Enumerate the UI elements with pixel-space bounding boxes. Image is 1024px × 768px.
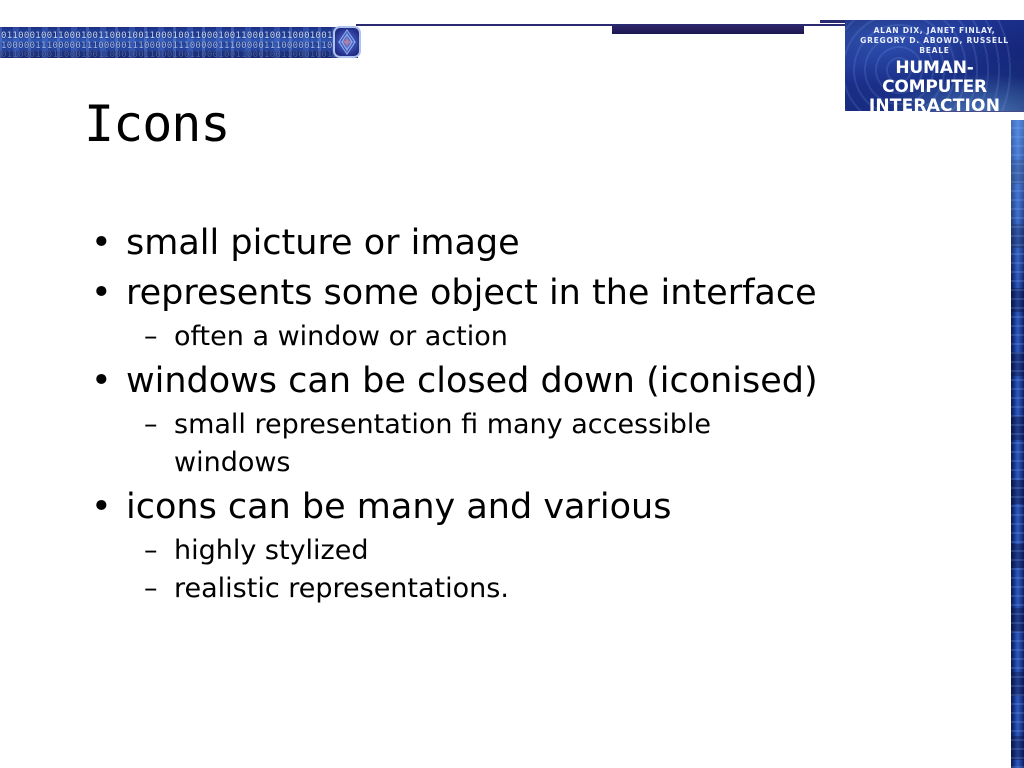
cover-authors-line-1: ALAN DIX, JANET FINLAY,: [845, 26, 1024, 36]
list-item: – highly stylized: [84, 532, 984, 570]
list-item-label: represents some object in the interface: [126, 273, 817, 313]
slide-canvas: 0110001001100010011000100110001001100010…: [0, 0, 1024, 768]
bullet-dash-icon: –: [144, 318, 158, 356]
list-item: – realistic representations.: [84, 570, 984, 608]
list-item-label: often a window or action: [174, 321, 508, 352]
list-item-label: small picture or image: [126, 223, 520, 263]
cover-title-line-1: HUMAN-COMPUTER: [845, 59, 1024, 97]
list-item: – small representation fi many accessibl…: [84, 406, 984, 482]
bullet-dot-icon: •: [91, 218, 112, 268]
slide-body: • small picture or image • represents so…: [84, 218, 984, 608]
list-item: – often a window or action: [84, 318, 984, 356]
bullet-dot-icon: •: [91, 268, 112, 318]
page-title: Icons: [84, 96, 230, 152]
binary-decor-bar: 0110001001100010011000100110001001100010…: [0, 27, 358, 58]
list-item: • icons can be many and various: [84, 482, 984, 532]
bullet-dash-icon: –: [144, 532, 158, 570]
list-item-label: small representation fi many accessible: [174, 409, 711, 440]
bullet-dash-icon: –: [144, 570, 158, 608]
list-item: • windows can be closed down (iconised): [84, 356, 984, 406]
list-item-label: highly stylized: [174, 535, 368, 566]
list-item-label: icons can be many and various: [126, 487, 671, 527]
binary-row-3: 0110001001100010011000100110001001100010…: [1, 50, 358, 58]
bullet-dot-icon: •: [91, 482, 112, 532]
list-item-label: windows can be closed down (iconised): [126, 361, 818, 401]
top-left-tick: [820, 20, 846, 23]
right-decor-strip: [1011, 120, 1024, 768]
book-cover-image: ALAN DIX, JANET FINLAY, GREGORY D. ABOWD…: [845, 20, 1024, 111]
cover-title-line-2: INTERACTION: [845, 97, 1024, 111]
binary-row-1: 0110001001100010011000100110001001100010…: [1, 31, 358, 41]
bullet-dash-icon: –: [144, 406, 158, 444]
header-navy-segment: [612, 26, 804, 34]
list-item: • small picture or image: [84, 218, 984, 268]
list-item-label: realistic representations.: [174, 573, 509, 604]
cover-authors-line-2: GREGORY D. ABOWD, RUSSELL BEALE: [845, 36, 1024, 56]
list-item: • represents some object in the interfac…: [84, 268, 984, 318]
bullet-dot-icon: •: [91, 356, 112, 406]
list-item-label-continued: windows: [174, 444, 984, 482]
diamond-star-icon: [333, 26, 361, 58]
right-strip-glow: [1011, 120, 1024, 290]
cover-under-notch: [930, 111, 1024, 125]
